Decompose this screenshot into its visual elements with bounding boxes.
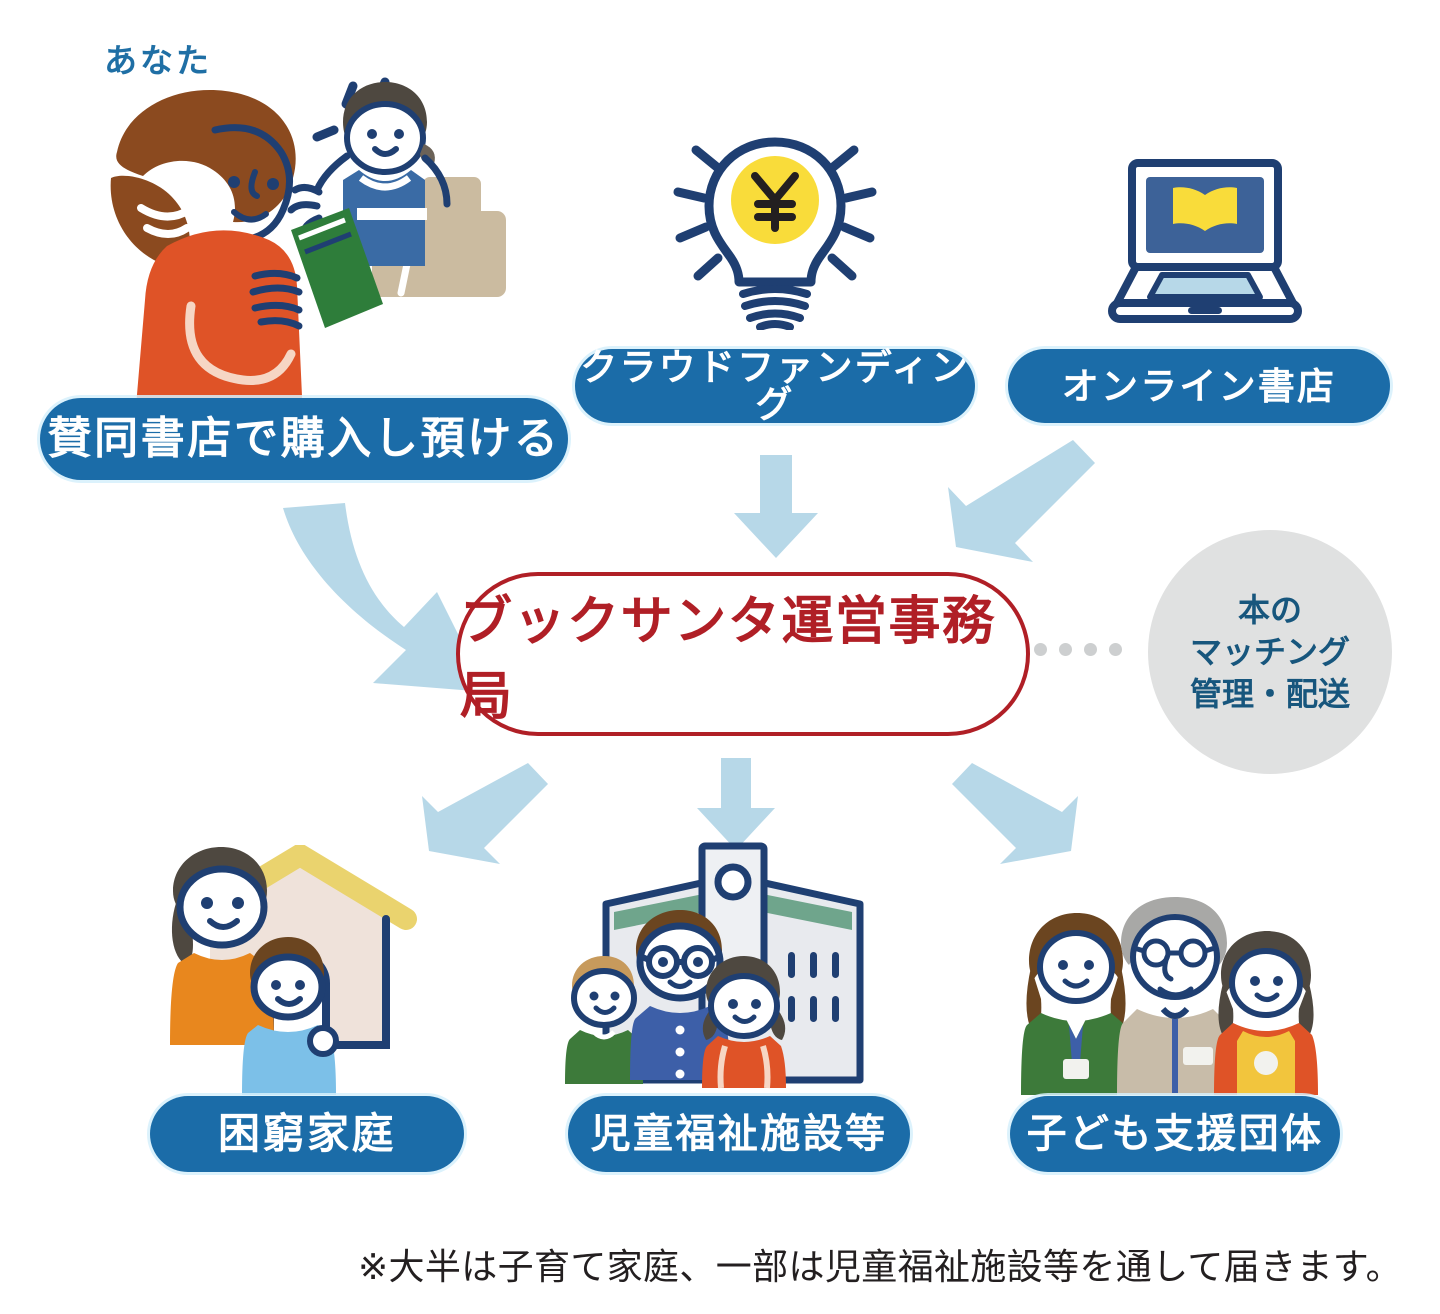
recipient-pill-label: 児童福祉施設等 xyxy=(591,1114,888,1154)
side-circle-line-1: 本の xyxy=(1238,589,1302,631)
connector-dot xyxy=(1034,643,1047,656)
recipient-pill-child-support-org[interactable]: 子ども支援団体 xyxy=(1010,1096,1340,1172)
children-facility-icon xyxy=(558,840,908,1092)
recipient-pill-child-welfare-facility[interactable]: 児童福祉施設等 xyxy=(568,1096,910,1172)
arrow-crowdfunding-to-office xyxy=(734,455,818,558)
arrow-office-to-org xyxy=(952,763,1078,864)
parent-child-house-icon xyxy=(150,845,450,1095)
recipient-pill-needy-family[interactable]: 困窮家庭 xyxy=(150,1096,464,1172)
laptop-book-icon xyxy=(1100,155,1310,330)
source-pill-crowdfunding[interactable]: クラウドファンディング xyxy=(575,349,975,423)
source-pill-online-bookstore[interactable]: オンライン書店 xyxy=(1008,349,1390,423)
side-circle-line-3: 管理・配送 xyxy=(1190,673,1350,715)
arrow-office-to-facility xyxy=(697,758,775,850)
you-label: あなた xyxy=(104,34,212,82)
side-circle-line-2: マッチング xyxy=(1190,631,1350,673)
source-pill-label: 賛同書店で購入し預ける xyxy=(47,417,560,461)
connector-dot xyxy=(1109,643,1122,656)
center-node-office[interactable]: ブックサンタ運営事務局 xyxy=(456,572,1030,736)
side-circle-matching: 本の マッチング 管理・配送 xyxy=(1148,530,1392,774)
lightbulb-yen-icon xyxy=(660,130,890,330)
dotted-connector xyxy=(1034,643,1122,656)
connector-dot xyxy=(1084,643,1097,656)
source-pill-partner-bookstore[interactable]: 賛同書店で購入し預ける xyxy=(40,398,568,480)
recipient-pill-label: 子ども支援団体 xyxy=(1027,1114,1324,1154)
arrow-online-to-office xyxy=(948,440,1095,562)
recipient-pill-label: 困窮家庭 xyxy=(218,1113,396,1155)
diagram-canvas: あなた xyxy=(0,0,1440,1314)
source-pill-label: オンライン書店 xyxy=(1062,368,1337,405)
woman-with-book-and-shop-clerk-icon xyxy=(95,60,515,410)
center-node-label: ブックサンタ運営事務局 xyxy=(460,579,1026,729)
three-staff-members-icon xyxy=(1015,895,1335,1095)
connector-dot xyxy=(1059,643,1072,656)
footnote-text: ※大半は子育て家庭、一部は児童福祉施設等を通して届きます。 xyxy=(358,1238,1402,1290)
source-pill-label: クラウドファンディング xyxy=(575,349,975,423)
